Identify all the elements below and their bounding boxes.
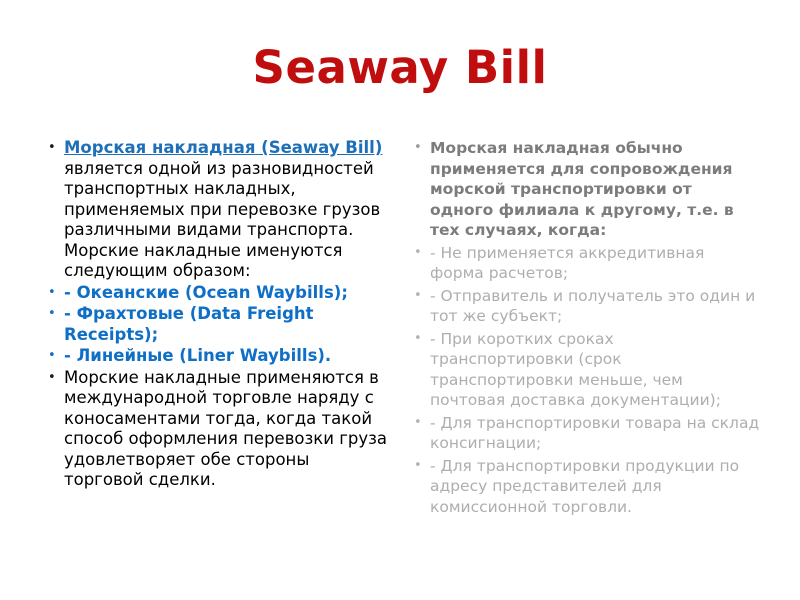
bullet-icon: • <box>48 304 56 325</box>
bullet-icon: • <box>48 346 56 367</box>
bullet-icon: • <box>48 138 56 159</box>
list-item: • - Фрахтовые (Data Freight Receipts); <box>42 304 392 345</box>
list-item-text: - Отправитель и получатель это один и то… <box>430 286 760 327</box>
list-item-text: - Океанские (Ocean Waybills); <box>64 283 392 304</box>
bullet-icon: • <box>48 283 56 304</box>
page-title: Seaway Bill <box>0 44 800 91</box>
list-item-text: - Не применяется аккредитивная форма рас… <box>430 243 760 284</box>
list-item: • Морские накладные применяются в междун… <box>42 368 392 491</box>
bullet-icon: • <box>414 243 422 264</box>
list-item: • - Для транспортировки товара на склад … <box>408 413 760 454</box>
list-item-text: - Фрахтовые (Data Freight Receipts); <box>64 304 392 345</box>
list-item: • - При коротких сроках транспортировки … <box>408 329 760 411</box>
right-content-column: • Морская накладная обычно применяется д… <box>408 138 760 519</box>
list-item-text: - Линейные (Liner Waybills). <box>64 346 392 367</box>
definition-body-text: является одной из разновидностей транспо… <box>64 159 380 281</box>
slide-canvas: Seaway Bill • Морская накладная (Seaway … <box>0 0 800 600</box>
list-item: • - Для транспортировки продукции по адр… <box>408 456 760 518</box>
bullet-icon: • <box>414 286 422 307</box>
bullet-icon: • <box>414 329 422 350</box>
list-item: • - Океанские (Ocean Waybills); <box>42 283 392 304</box>
list-item: • Морская накладная (Seaway Bill) являет… <box>42 138 392 282</box>
list-item: • - Линейные (Liner Waybills). <box>42 346 392 367</box>
bullet-icon: • <box>414 456 422 477</box>
list-item-text: - Для транспортировки товара на склад ко… <box>430 413 760 454</box>
list-item: • - Отправитель и получатель это один и … <box>408 286 760 327</box>
left-content-column: • Морская накладная (Seaway Bill) являет… <box>42 138 392 492</box>
right-bullet-list: • Морская накладная обычно применяется д… <box>408 138 760 517</box>
bullet-icon: • <box>414 138 422 159</box>
list-item-text: Морские накладные применяются в междунар… <box>64 368 392 491</box>
seaway-bill-link[interactable]: Морская накладная (Seaway Bill) <box>64 138 382 157</box>
list-item-text: - При коротких сроках транспортировки (с… <box>430 329 760 411</box>
bullet-icon: • <box>414 413 422 434</box>
list-item-text: Морская накладная обычно применяется для… <box>430 138 760 241</box>
list-item: • - Не применяется аккредитивная форма р… <box>408 243 760 284</box>
bullet-icon: • <box>48 368 56 389</box>
list-item-text: Морская накладная (Seaway Bill) является… <box>64 138 392 282</box>
list-item-text: - Для транспортировки продукции по адрес… <box>430 456 760 518</box>
list-item: • Морская накладная обычно применяется д… <box>408 138 760 241</box>
left-bullet-list: • Морская накладная (Seaway Bill) являет… <box>42 138 392 491</box>
